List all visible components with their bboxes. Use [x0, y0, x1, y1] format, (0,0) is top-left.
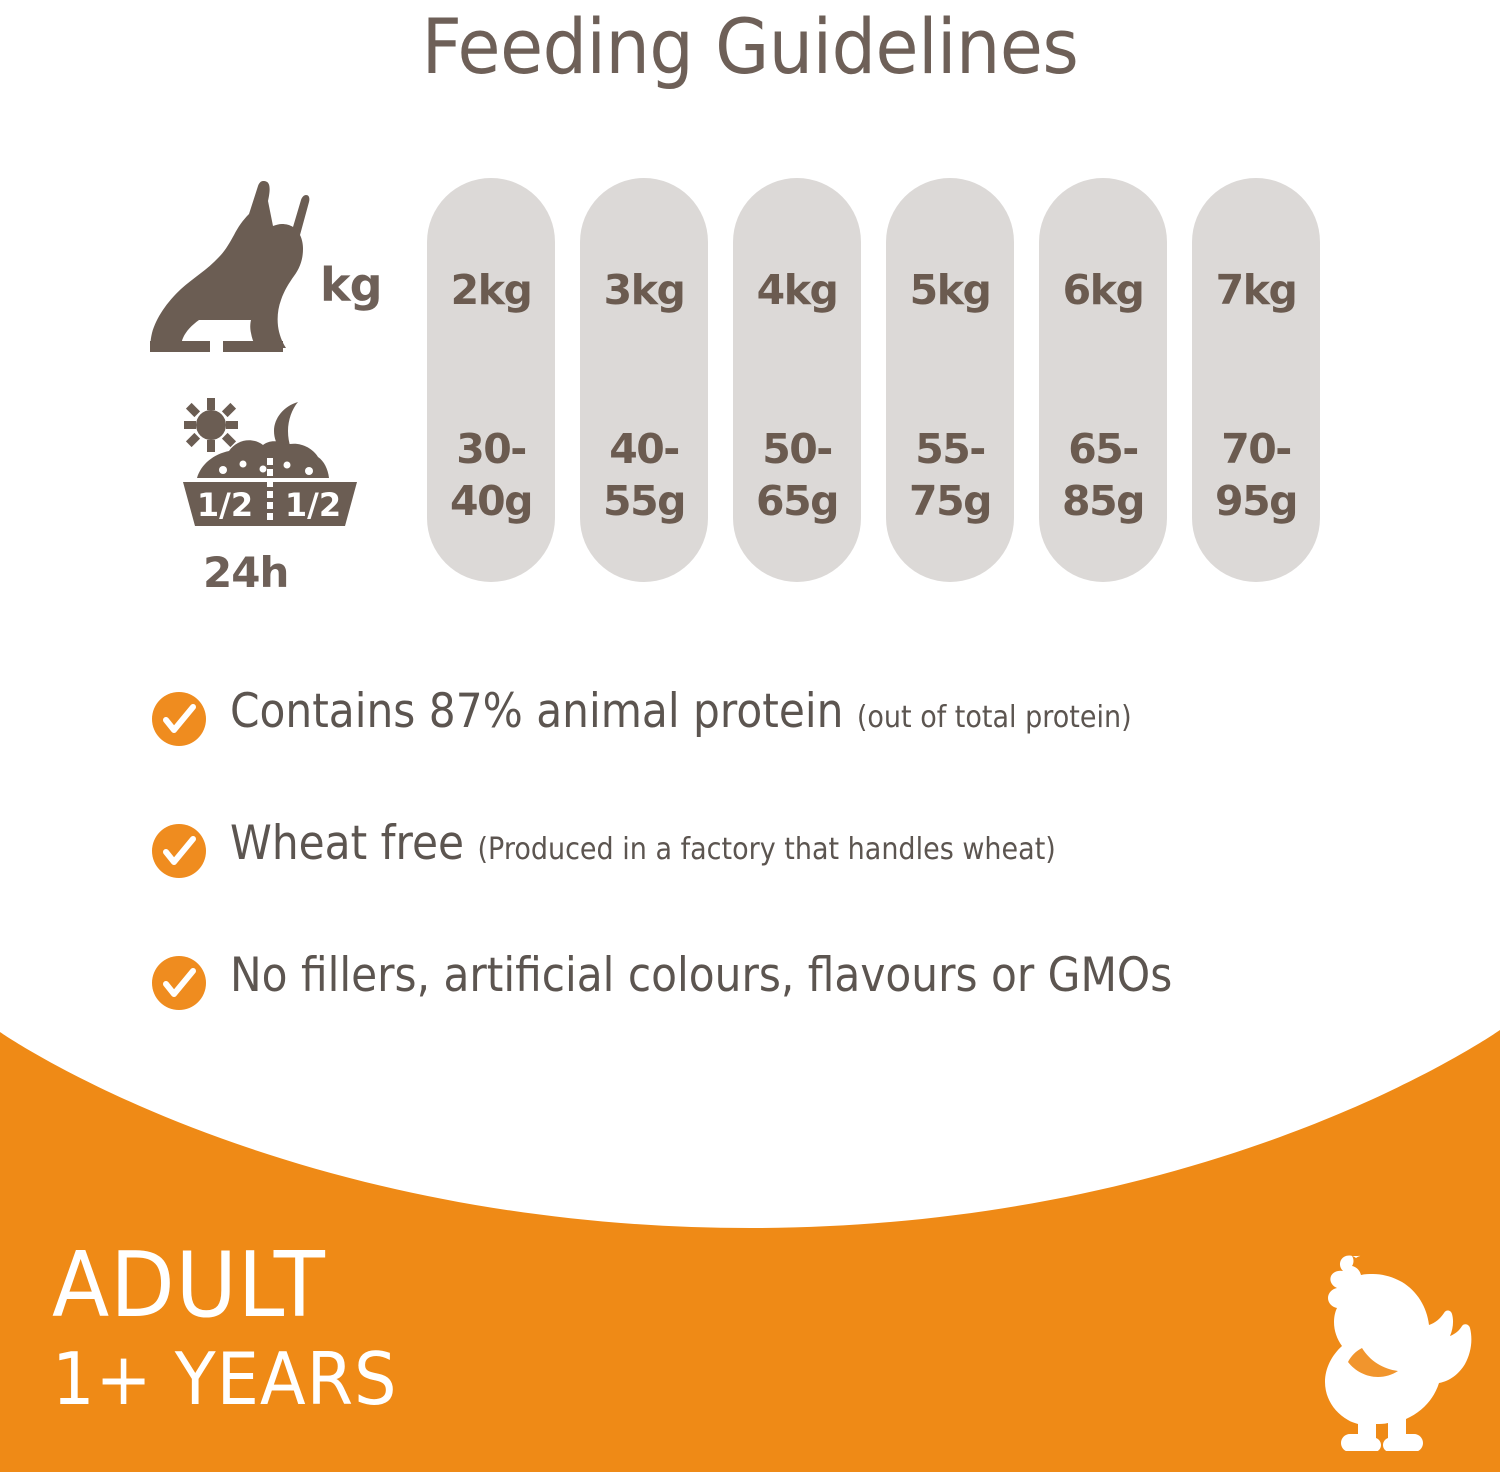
feeding-column: 2kg 30-40g [427, 178, 555, 582]
benefit-sub: (out of total protein) [857, 700, 1132, 735]
page-title: Feeding Guidelines [60, 2, 1440, 91]
check-icon [152, 692, 206, 746]
column-weight: 6kg [1039, 266, 1167, 314]
age-label-line2: 1+ YEARS [52, 1338, 397, 1420]
amount-line-1: 55- [915, 425, 985, 473]
benefit-text: Wheat free (Produced in a factory that h… [230, 816, 1056, 871]
amount-line-2: 75g [886, 475, 1014, 527]
column-weight: 7kg [1192, 266, 1320, 314]
age-band-footer: ADULT 1+ YEARS [0, 1010, 1500, 1472]
feeding-column: 5kg 55-75g [886, 178, 1014, 582]
column-amount: 50-65g [733, 423, 861, 527]
feeding-table-row-labels: kg [140, 170, 410, 590]
feeding-guidelines-panel: Feeding Guidelines kg [0, 0, 1500, 1472]
svg-text:1/2: 1/2 [285, 486, 341, 524]
feeding-column: 3kg 40-55g [580, 178, 708, 582]
benefit-sub: (Produced in a factory that handles whea… [477, 832, 1055, 867]
column-weight: 5kg [886, 266, 1014, 314]
benefit-main: Contains 87% animal protein [230, 684, 857, 739]
check-icon [152, 956, 206, 1010]
column-amount: 65-85g [1039, 423, 1167, 527]
list-item: Wheat free (Produced in a factory that h… [152, 820, 1402, 952]
chicken-icon [1300, 1236, 1480, 1451]
amount-line-2: 85g [1039, 475, 1167, 527]
amount-line-2: 65g [733, 475, 861, 527]
feeding-column: 6kg 65-85g [1039, 178, 1167, 582]
amount-line-1: 70- [1221, 425, 1291, 473]
sun-icon [184, 398, 238, 452]
amount-line-1: 40- [609, 425, 679, 473]
amount-line-2: 95g [1192, 475, 1320, 527]
benefit-main: Wheat free [230, 816, 477, 871]
feeding-period-label: 24h [203, 548, 288, 597]
svg-text:1/2: 1/2 [197, 486, 253, 524]
column-weight: 4kg [733, 266, 861, 314]
column-weight: 2kg [427, 266, 555, 314]
column-amount: 30-40g [427, 423, 555, 527]
column-amount: 70-95g [1192, 423, 1320, 527]
age-label-line1: ADULT [52, 1238, 397, 1334]
check-icon [152, 824, 206, 878]
column-amount: 40-55g [580, 423, 708, 527]
sitting-cat-icon [145, 175, 325, 360]
amount-line-1: 30- [456, 425, 526, 473]
column-weight: 3kg [580, 266, 708, 314]
age-label: ADULT 1+ YEARS [52, 1238, 423, 1420]
amount-line-1: 50- [762, 425, 832, 473]
amount-line-2: 40g [427, 475, 555, 527]
benefit-main: No fillers, artificial colours, flavours… [230, 948, 1172, 1003]
feeding-table-columns: 2kg 30-40g 3kg 40-55g 4kg 50-65g 5kg 55-… [427, 178, 1367, 582]
feeding-table: kg [0, 170, 1500, 600]
benefit-text: No fillers, artificial colours, flavours… [230, 948, 1172, 1003]
amount-line-1: 65- [1068, 425, 1138, 473]
weight-unit-label: kg [320, 258, 382, 312]
amount-line-2: 55g [580, 475, 708, 527]
feeding-column: 7kg 70-95g [1192, 178, 1320, 582]
benefit-text: Contains 87% animal protein (out of tota… [230, 684, 1132, 739]
sun-moon-food-bowl-icon: 1/2 1/2 [165, 398, 375, 548]
feeding-column: 4kg 50-65g [733, 178, 861, 582]
list-item: Contains 87% animal protein (out of tota… [152, 688, 1402, 820]
column-amount: 55-75g [886, 423, 1014, 527]
